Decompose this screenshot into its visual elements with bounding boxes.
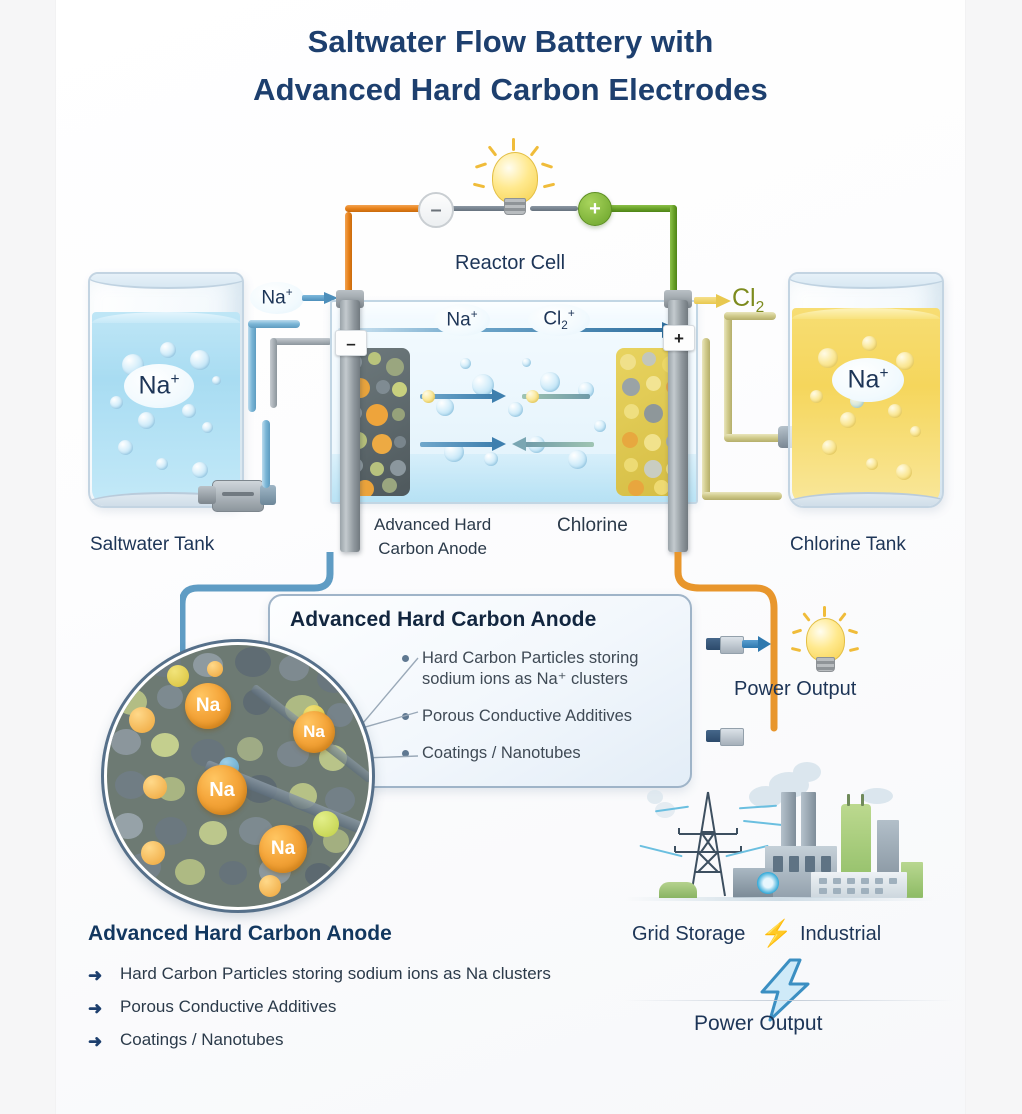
saltwater-pipe-grey-v: [270, 338, 277, 408]
office-window: [889, 878, 897, 884]
chlorine-tank-label: Chlorine Tank: [790, 534, 906, 556]
office-window: [847, 888, 855, 894]
office-window: [833, 888, 841, 894]
title-line-1: Saltwater Flow Battery with: [56, 18, 965, 66]
arrow-bullet-icon: ➜: [88, 999, 102, 1019]
callout-list: Hard Carbon Particles storing sodium ion…: [422, 648, 672, 775]
grid-storage-label: Grid Storage: [632, 923, 745, 946]
cell-ion-right-symbol: Cl: [543, 309, 561, 330]
office-window: [833, 878, 841, 884]
cell-ion-left-charge: +: [471, 308, 478, 321]
arrow-bullet-icon: ➜: [88, 966, 102, 986]
office-window: [847, 878, 855, 884]
bottom-list: ➜ Hard Carbon Particles storing sodium i…: [88, 964, 628, 1063]
cell-ion-right-sub: 2: [561, 320, 568, 333]
power-output-label-top: Power Output: [734, 678, 856, 701]
office-window: [819, 878, 827, 884]
sodium-ion-label: Na: [209, 779, 235, 802]
inlet-ion-charge: +: [286, 286, 293, 299]
infographic-root: Saltwater Flow Battery with Advanced Har…: [0, 0, 1022, 1114]
callout-list-item: Hard Carbon Particles storing sodium ion…: [422, 648, 672, 690]
sodium-ion-label: Na: [271, 838, 295, 860]
page-title: Saltwater Flow Battery with Advanced Har…: [56, 18, 965, 114]
chlorine-tank-ion-badge: Na+: [832, 358, 904, 402]
arrow-bullet-icon: ➜: [88, 1032, 102, 1052]
inlet-ion-badge: Na+: [250, 282, 304, 314]
callout-item-text: Porous Conductive Additives: [422, 707, 632, 725]
cell-top-flow-line: [338, 328, 668, 332]
cell-ion-right-badge: Cl2+: [528, 304, 590, 336]
bottom-list-item: ➜ Coatings / Nanotubes: [88, 1030, 628, 1050]
chlorine-pipe-inlet: [724, 434, 784, 442]
saltwater-pipe-grey: [270, 338, 332, 345]
turbine-icon: [757, 872, 779, 894]
industrial-label: Industrial: [800, 923, 881, 946]
cell-ion-right-charge: +: [568, 307, 575, 320]
cathode-terminal-badge: +: [663, 325, 695, 351]
chlorine-pipe-top: [724, 312, 732, 440]
cathode-label: Chlorine: [557, 515, 628, 537]
saltwater-pipe-upper: [248, 320, 256, 412]
anode-label-line-1: Advanced Hard: [374, 515, 491, 535]
sodium-ion-ball: Na: [259, 825, 307, 873]
bottom-heading: Advanced Hard Carbon Anode: [88, 922, 392, 946]
chlorine-gas-symbol: Cl: [732, 284, 756, 312]
negative-terminal-label: –: [430, 200, 441, 220]
factory-window: [805, 856, 815, 872]
chlorine-tank-ion-charge: +: [879, 365, 888, 382]
energy-flow-arrow: [743, 820, 783, 826]
positive-terminal-node: +: [578, 192, 612, 226]
cell-ion-left-symbol: Na: [446, 310, 470, 331]
cell-ion-left-badge: Na+: [434, 304, 490, 336]
bottom-item-text: Hard Carbon Particles storing sodium ion…: [120, 964, 551, 983]
smoke-cloud-icon: [861, 788, 893, 804]
saltwater-ion-charge: +: [170, 371, 179, 388]
smoke-cloud-icon: [793, 762, 821, 782]
chlorine-outlet-arrow: [694, 294, 732, 306]
positive-terminal-label: +: [589, 199, 601, 219]
factory-window: [773, 856, 783, 872]
ion-arrow-4: [522, 442, 594, 447]
negative-terminal-node: –: [418, 192, 454, 228]
bottom-list-item: ➜ Porous Conductive Additives: [88, 997, 628, 1017]
factory-window: [821, 856, 831, 872]
power-output-label-bottom: Power Output: [694, 1012, 822, 1036]
chlorine-tank: Na+: [788, 272, 940, 504]
anode-marker-label: –: [346, 335, 355, 352]
section-divider: [624, 1000, 954, 1001]
lightbulb-icon: [484, 152, 544, 214]
office-window: [875, 888, 883, 894]
positive-wire-horizontal: [605, 205, 677, 212]
chlorine-pipe-bot: [702, 338, 710, 500]
callout-heading: Advanced Hard Carbon Anode: [290, 608, 596, 632]
power-lightbulb-icon: [800, 618, 850, 672]
sodium-ion-label: Na: [196, 695, 220, 717]
cathode-marker-label: +: [674, 330, 684, 347]
saltwater-pipe-lower: [262, 420, 270, 488]
magnifier-inset: Na Na Na Na: [104, 642, 372, 910]
sodium-ion-label: Na: [303, 722, 325, 742]
industry-scene: [625, 758, 945, 910]
title-line-2: Advanced Hard Carbon Electrodes: [56, 66, 965, 114]
sodium-ion-ball: Na: [197, 765, 247, 815]
reactor-cell: [330, 300, 698, 504]
saltwater-tank: Na+: [88, 272, 240, 504]
chlorine-liquid: [792, 308, 940, 504]
energy-flow-arrow: [739, 805, 777, 810]
chlorine-pipe-bot-h: [702, 492, 782, 500]
inlet-ion-symbol: Na: [261, 288, 285, 309]
office-window: [861, 888, 869, 894]
ion-arrow-2: [420, 442, 496, 447]
office-window: [875, 878, 883, 884]
office-block: [811, 872, 907, 898]
tower-antenna: [847, 794, 850, 806]
callout-item-text: Hard Carbon Particles storing sodium ion…: [422, 649, 638, 688]
power-connector-top: [706, 636, 766, 652]
saltwater-liquid: [92, 312, 240, 504]
saltwater-tank-ion-badge: Na+: [124, 364, 194, 408]
bush-icon: [659, 882, 697, 898]
tower-antenna: [861, 794, 864, 806]
chlorine-pipe-top-h: [724, 312, 776, 320]
sodium-ion-ball: Na: [185, 683, 231, 729]
reactor-cell-label: Reactor Cell: [455, 252, 565, 275]
saltwater-ion-symbol: Na: [138, 372, 170, 400]
bottom-list-item: ➜ Hard Carbon Particles storing sodium i…: [88, 964, 628, 984]
factory-window: [789, 856, 799, 872]
chlorine-tank-ion-symbol: Na: [847, 366, 879, 394]
bolt-icon: ⚡: [760, 918, 792, 949]
office-window: [819, 888, 827, 894]
bottom-item-text: Coatings / Nanotubes: [120, 1030, 284, 1049]
sodium-ion-ball: Na: [293, 711, 335, 753]
anode-label: Advanced Hard Carbon Anode: [374, 515, 491, 559]
callout-list-item: Porous Conductive Additives: [422, 706, 672, 727]
saltwater-pipe-top: [248, 320, 300, 328]
power-connector-bottom: [706, 728, 786, 744]
anode-terminal-badge: –: [335, 330, 367, 356]
office-window: [861, 878, 869, 884]
callout-item-text: Coatings / Nanotubes: [422, 744, 581, 762]
bottom-item-text: Porous Conductive Additives: [120, 997, 336, 1016]
anode-label-line-2: Carbon Anode: [374, 539, 491, 559]
